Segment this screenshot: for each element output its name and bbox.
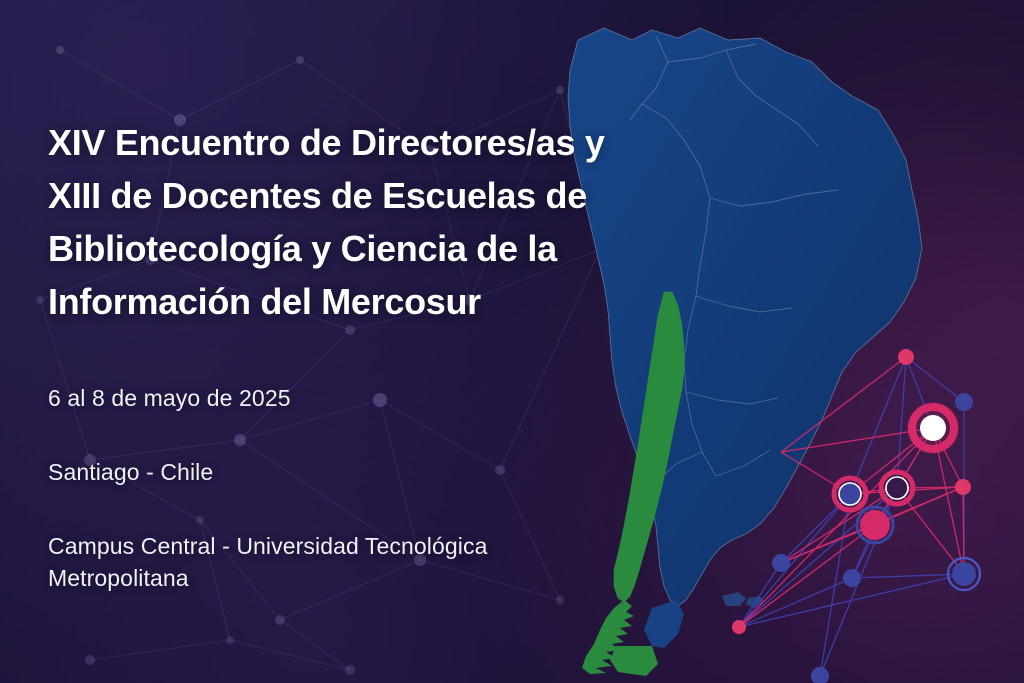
title-line-4: Información del Mercosur <box>48 275 728 328</box>
network-node <box>898 349 914 365</box>
network-node-ringed <box>857 507 893 543</box>
page-title: XIV Encuentro de Directores/as y XIII de… <box>48 116 728 328</box>
event-venue-line-2: Metropolitana <box>48 562 688 594</box>
title-line-1: XIV Encuentro de Directores/as y <box>48 116 728 169</box>
santiago-highlight-node <box>907 402 959 454</box>
event-venue: Campus Central - Universidad Tecnológica… <box>48 530 688 594</box>
network-node <box>955 393 973 411</box>
network-node <box>843 569 861 587</box>
event-dates-line: 6 al 8 de mayo de 2025 <box>48 382 688 414</box>
title-line-3: Bibliotecología y Ciencia de la <box>48 222 728 275</box>
event-details: 6 al 8 de mayo de 2025 Santiago - Chile … <box>48 382 688 594</box>
network-links <box>739 357 964 676</box>
poster-text-column: XIV Encuentro de Directores/as y XIII de… <box>48 0 748 683</box>
event-venue-line-1: Campus Central - Universidad Tecnológica <box>48 530 688 562</box>
event-dates: 6 al 8 de mayo de 2025 <box>48 382 688 414</box>
network-node-ringed <box>834 478 866 510</box>
conference-poster: XIV Encuentro de Directores/as y XIII de… <box>0 0 1024 683</box>
network-nodes <box>732 349 980 683</box>
title-line-2: XIII de Docentes de Escuelas de <box>48 169 728 222</box>
network-node-ringed <box>881 472 913 504</box>
event-location-line: Santiago - Chile <box>48 456 688 488</box>
network-node <box>955 479 971 495</box>
network-node <box>772 554 790 572</box>
network-node-ringed <box>948 558 980 590</box>
event-location: Santiago - Chile <box>48 456 688 488</box>
network-node <box>811 667 829 683</box>
